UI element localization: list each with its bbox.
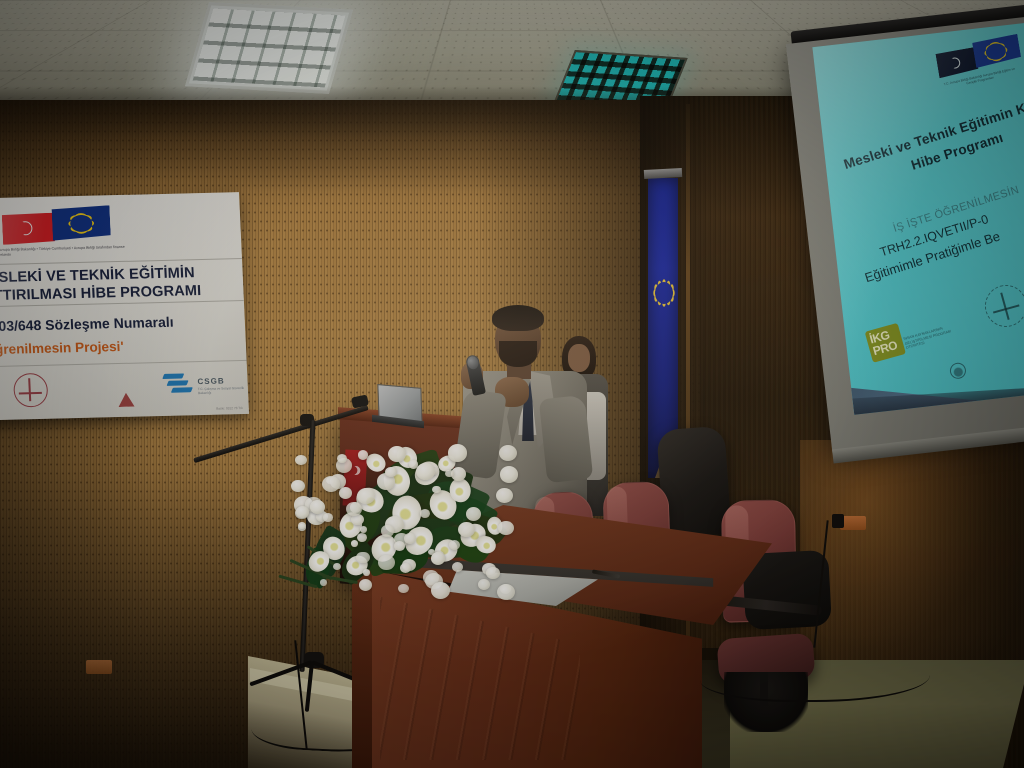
white-floret — [388, 446, 406, 462]
turkey-flag-icon — [935, 47, 979, 78]
white-floret — [498, 521, 514, 535]
white-floret — [497, 584, 515, 600]
white-floret — [400, 563, 411, 573]
european-union-flag-icon — [972, 34, 1022, 68]
white-floret — [323, 513, 333, 522]
ministry-seal-icon — [980, 280, 1024, 332]
floor-cable-right — [700, 648, 930, 702]
white-floret — [394, 541, 405, 551]
conference-room-photo: T.C. Avrupa Birliği Bakanlığı Avrupa Bir… — [0, 0, 1024, 768]
ikg-pro-logo: İKG PRO — [865, 323, 906, 363]
white-floret — [496, 488, 513, 503]
white-floret — [358, 450, 369, 460]
mini-seal-icon-a — [948, 361, 968, 381]
white-floret — [295, 455, 307, 465]
banner-rod — [644, 168, 682, 179]
white-floret — [499, 445, 517, 461]
eu-stars-icon — [655, 282, 673, 304]
wall-outlet-left — [86, 660, 112, 674]
white-floret — [346, 502, 362, 516]
white-floret — [431, 582, 451, 600]
white-floret — [298, 522, 306, 529]
project-banner: T.C. Avrupa Birliği Bakanlığı • Türkiye … — [0, 192, 249, 422]
white-floret — [357, 533, 367, 542]
speaker-arm-right — [539, 395, 594, 483]
speaker-hair — [492, 305, 544, 331]
white-floret — [356, 552, 369, 564]
slide-title: Mesleki ve Teknik Eğitimin Kalite Hibe P… — [841, 80, 1024, 195]
ikg-pro-caption: İNSAN KAYNAKLARININ GELİŞTİRİLMESİ PROGR… — [903, 322, 961, 350]
white-floret — [500, 466, 518, 482]
ceiling-light-left — [185, 2, 353, 94]
speaker-beard — [499, 341, 537, 367]
white-floret — [404, 533, 416, 544]
white-floret — [339, 487, 352, 499]
white-floret — [431, 552, 445, 565]
white-floret — [359, 579, 373, 591]
white-floret — [320, 579, 327, 586]
white-floret — [478, 579, 490, 590]
white-floret — [378, 555, 394, 570]
banner-glare — [0, 192, 249, 422]
white-floret — [357, 488, 375, 504]
white-floret — [291, 480, 304, 492]
white-floret — [416, 463, 435, 480]
white-floret — [466, 507, 481, 521]
white-floret — [398, 584, 408, 593]
white-floret — [452, 562, 463, 572]
white-floret — [432, 486, 441, 494]
white-floral-arrangement — [278, 440, 528, 610]
white-floret — [486, 567, 500, 580]
white-floret — [381, 525, 393, 536]
white-floret — [322, 476, 340, 492]
white-floret — [448, 444, 467, 461]
white-floret — [296, 506, 309, 518]
wall-plug — [832, 514, 844, 528]
white-floret — [363, 569, 370, 576]
